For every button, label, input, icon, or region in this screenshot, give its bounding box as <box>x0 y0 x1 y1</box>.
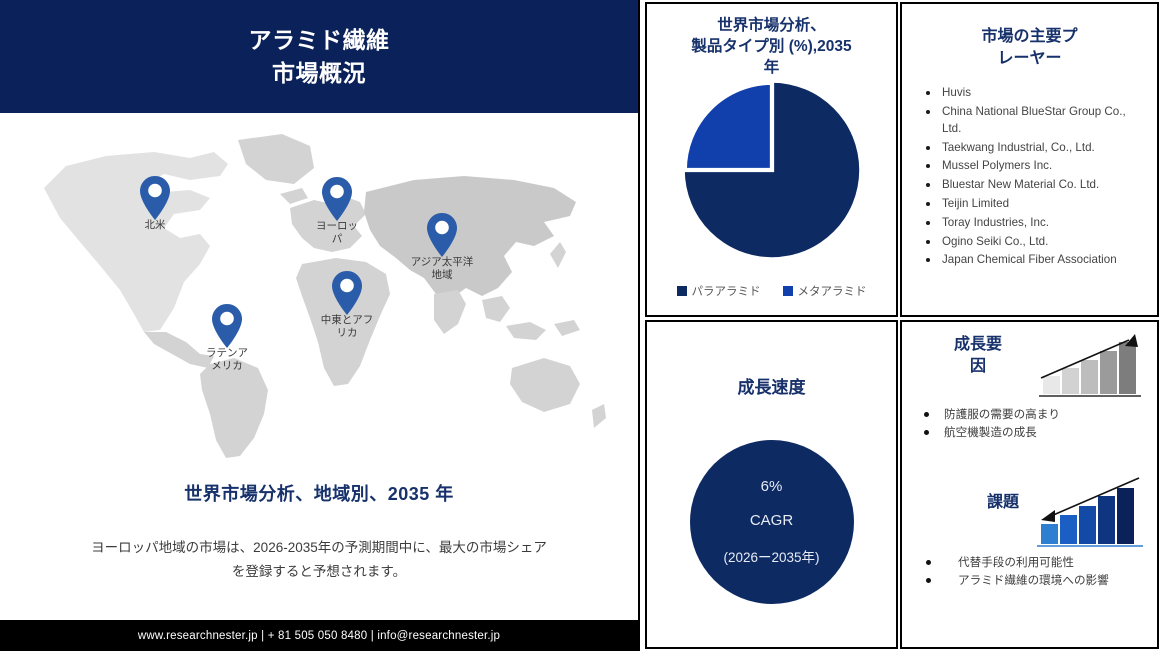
list-item: Teijin Limited <box>924 196 1143 213</box>
map-pin-label: アジア太平洋地域 <box>406 256 478 282</box>
key-players-panel: 市場の主要プ レーヤー Huvis China National BlueSta… <box>900 2 1159 317</box>
challenges-list: 代替手段の利用可能性 アラミド繊維の環境への影響 <box>918 554 1147 590</box>
header-band: アラミド繊維 市場概況 <box>0 0 638 113</box>
drivers-header: 成長要 因 <box>902 322 1157 404</box>
drivers-title-line2: 因 <box>918 356 1038 378</box>
location-pin-icon <box>320 176 354 222</box>
list-item: Huvis <box>924 85 1143 102</box>
cagr-circle: 6% CAGR (2026ー2035年) <box>690 440 854 604</box>
challenges-bar-chart-down-icon <box>1033 472 1149 552</box>
pie-panel-title: 世界市場分析、 製品タイプ別 (%),2035 年 <box>653 16 890 79</box>
list-item: Bluestar New Material Co. Ltd. <box>924 177 1143 194</box>
players-list: Huvis China National BlueStar Group Co.,… <box>924 85 1143 269</box>
pie-title-line2: 製品タイプ別 (%),2035 <box>653 37 890 58</box>
pie-title-line1: 世界市場分析、 <box>653 16 890 37</box>
drivers-challenges-panel: 成長要 因 防護服の需要の高まり 航空機製造の成長 課題 <box>900 320 1159 649</box>
map-pin-asia-pacific[interactable]: アジア太平洋地域 <box>425 212 459 258</box>
map-pin-latin-america[interactable]: ラテンアメリカ <box>210 303 244 349</box>
left-panel: アラミド繊維 市場概況 <box>0 0 640 651</box>
map-pin-north-america[interactable]: 北米 <box>138 175 172 221</box>
world-map: 北米 ヨーロッパ アジア太平洋地域 <box>0 118 638 468</box>
list-item: Taekwang Industrial, Co., Ltd. <box>924 140 1143 157</box>
location-pin-icon <box>138 175 172 221</box>
drivers-title: 成長要 因 <box>918 334 1038 377</box>
growth-rate-panel: 成長速度 6% CAGR (2026ー2035年) <box>645 320 898 649</box>
map-pin-label: ヨーロッパ <box>311 220 363 246</box>
list-item: China National BlueStar Group Co., Ltd. <box>924 104 1143 138</box>
cagr-metric: CAGR <box>750 512 793 529</box>
pie-chart-svg <box>683 81 861 259</box>
legend-label: パラアラミド <box>692 283 761 299</box>
page-title-line2: 市場概況 <box>249 57 390 90</box>
list-item: アラミド繊維の環境への影響 <box>918 572 1147 589</box>
location-pin-icon <box>210 303 244 349</box>
pie-slice-meta-aramid <box>684 83 771 170</box>
pie-legend: パラアラミド メタアラミド <box>647 283 896 299</box>
legend-item-para-aramid: パラアラミド <box>677 283 761 299</box>
map-pin-label: ラテンアメリカ <box>205 347 249 373</box>
players-panel-title: 市場の主要プ レーヤー <box>914 26 1145 69</box>
pie-title-line3: 年 <box>653 58 890 79</box>
map-pin-middle-east-africa[interactable]: 中東とアフリカ <box>330 270 364 316</box>
drivers-list: 防護服の需要の高まり 航空機製造の成長 <box>918 406 1147 442</box>
challenges-header: 課題 <box>902 466 1157 552</box>
list-item: 防護服の需要の高まり <box>918 406 1147 423</box>
list-item: 航空機製造の成長 <box>918 424 1147 441</box>
pie-chart <box>647 81 896 261</box>
page-title: アラミド繊維 市場概況 <box>249 24 390 89</box>
location-pin-icon <box>425 212 459 258</box>
map-pin-europe[interactable]: ヨーロッパ <box>320 176 354 222</box>
legend-item-meta-aramid: メタアラミド <box>783 283 867 299</box>
infographic-page: アラミド繊維 市場概況 <box>0 0 1161 651</box>
world-map-svg <box>14 118 624 463</box>
drivers-title-line1: 成長要 <box>918 334 1038 356</box>
cagr-panel-title: 成長速度 <box>647 377 896 400</box>
location-pin-icon <box>330 270 364 316</box>
map-pin-label: 中東とアフリカ <box>316 314 378 340</box>
list-item: 代替手段の利用可能性 <box>918 554 1147 571</box>
map-pin-label: 北米 <box>118 219 192 232</box>
legend-swatch-icon <box>783 286 793 296</box>
list-item: Toray Industries, Inc. <box>924 215 1143 232</box>
region-description: ヨーロッパ地域の市場は、2026-2035年の予測期間中に、最大の市場シェアを登… <box>86 536 552 583</box>
growth-bar-chart-up-icon <box>1037 330 1147 402</box>
cagr-value: 6% <box>761 478 783 495</box>
players-title-line2: レーヤー <box>914 48 1145 70</box>
list-item: Ogino Seiki Co., Ltd. <box>924 234 1143 251</box>
players-title-line1: 市場の主要プ <box>914 26 1145 48</box>
footer-bar: www.researchnester.jp | + 81 505 050 848… <box>0 620 638 651</box>
footer-contact-text: www.researchnester.jp | + 81 505 050 848… <box>138 630 500 642</box>
list-item: Mussel Polymers Inc. <box>924 158 1143 175</box>
list-item: Japan Chemical Fiber Association <box>924 252 1143 269</box>
legend-swatch-icon <box>677 286 687 296</box>
legend-label: メタアラミド <box>798 283 867 299</box>
cagr-period: (2026ー2035年) <box>723 546 819 566</box>
product-type-pie-panel: 世界市場分析、 製品タイプ別 (%),2035 年 パラアラミド メタアラミド <box>645 2 898 317</box>
page-title-line1: アラミド繊維 <box>249 24 390 57</box>
region-heading: 世界市場分析、地域別、2035 年 <box>0 480 638 506</box>
